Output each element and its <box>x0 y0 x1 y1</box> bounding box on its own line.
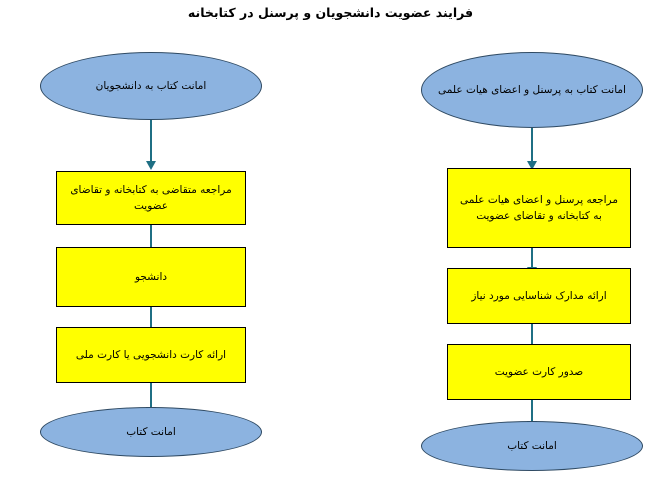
node-right-issue-card-label: صدور کارت عضویت <box>453 364 624 380</box>
node-left-request[interactable]: مراجعه متقاضی به کتابخانه و تقاضای عضویت <box>56 171 246 225</box>
node-right-request-label: مراجعه پرسنل و اعضای هیات علمی به کتابخا… <box>453 192 624 225</box>
node-right-issue-card[interactable]: صدور کارت عضویت <box>447 344 631 400</box>
connector-left-1 <box>150 120 152 162</box>
connector-right-4 <box>531 400 533 422</box>
connector-right-2 <box>531 248 533 268</box>
connector-left-4 <box>150 383 152 408</box>
connector-right-1 <box>531 128 533 162</box>
node-left-student-label: دانشجو <box>63 269 240 285</box>
connector-left-3 <box>150 307 152 329</box>
connector-right-3 <box>531 324 533 346</box>
node-right-start-label: امانت کتاب به پرسنل و اعضای هیات علمی <box>429 82 635 98</box>
node-left-student[interactable]: دانشجو <box>56 247 246 307</box>
flowchart-canvas: فرایند عضویت دانشجویان و پرسنل در کتابخا… <box>0 0 661 478</box>
node-left-request-label: مراجعه متقاضی به کتابخانه و تقاضای عضویت <box>63 182 240 215</box>
node-left-end[interactable]: امانت کتاب <box>40 407 262 457</box>
node-right-request[interactable]: مراجعه پرسنل و اعضای هیات علمی به کتابخا… <box>447 168 631 248</box>
node-right-end-label: امانت کتاب <box>429 438 635 454</box>
page-title: فرایند عضویت دانشجویان و پرسنل در کتابخا… <box>0 5 661 20</box>
node-left-end-label: امانت کتاب <box>48 424 254 440</box>
node-right-start[interactable]: امانت کتاب به پرسنل و اعضای هیات علمی <box>421 52 643 128</box>
node-right-documents[interactable]: ارائه مدارک شناسایی مورد نیاز <box>447 268 631 324</box>
node-left-idcard-label: ارائه کارت دانشجویی یا کارت ملی <box>63 347 240 363</box>
node-right-documents-label: ارائه مدارک شناسایی مورد نیاز <box>453 288 624 304</box>
node-left-idcard[interactable]: ارائه کارت دانشجویی یا کارت ملی <box>56 327 246 383</box>
node-left-start-label: امانت کتاب به دانشجویان <box>48 78 254 94</box>
connector-left-2 <box>150 225 152 249</box>
node-right-end[interactable]: امانت کتاب <box>421 421 643 471</box>
node-left-start[interactable]: امانت کتاب به دانشجویان <box>40 52 262 120</box>
